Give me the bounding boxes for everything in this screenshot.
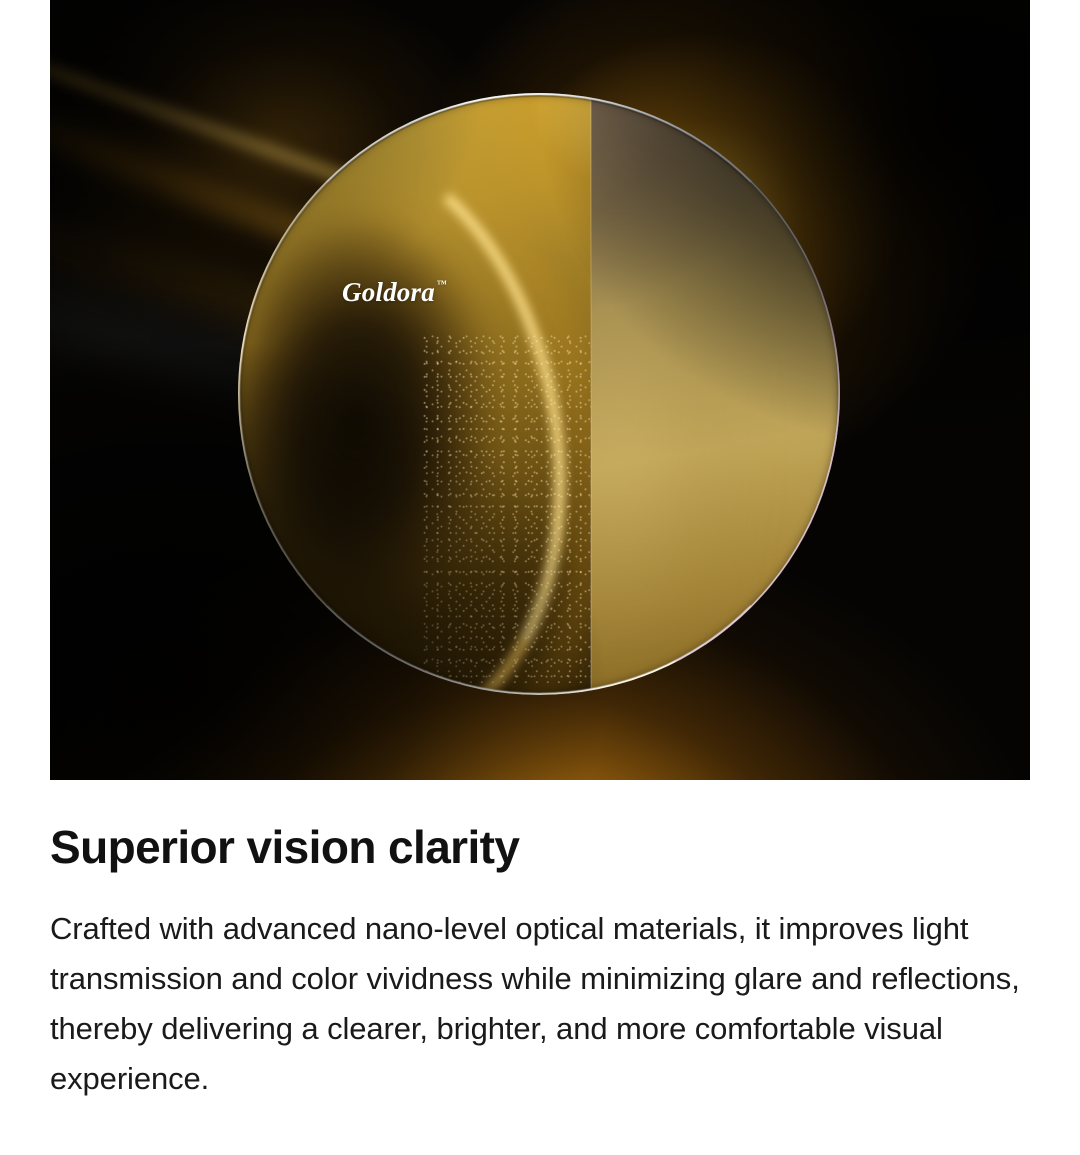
product-feature-page: Goldora ™ Superior vision clarity Crafte…	[0, 0, 1080, 1155]
hero-lens-image: Goldora ™	[50, 0, 1030, 780]
brand-name: Goldora	[342, 279, 435, 306]
page-title: Superior vision clarity	[50, 780, 1030, 874]
hero-vignette	[50, 0, 1030, 780]
trademark-icon: ™	[437, 280, 447, 290]
feature-description: Crafted with advanced nano-level optical…	[50, 874, 1025, 1104]
feature-text-block: Superior vision clarity Crafted with adv…	[50, 780, 1030, 1104]
brand-wordmark: Goldora ™	[342, 279, 447, 306]
